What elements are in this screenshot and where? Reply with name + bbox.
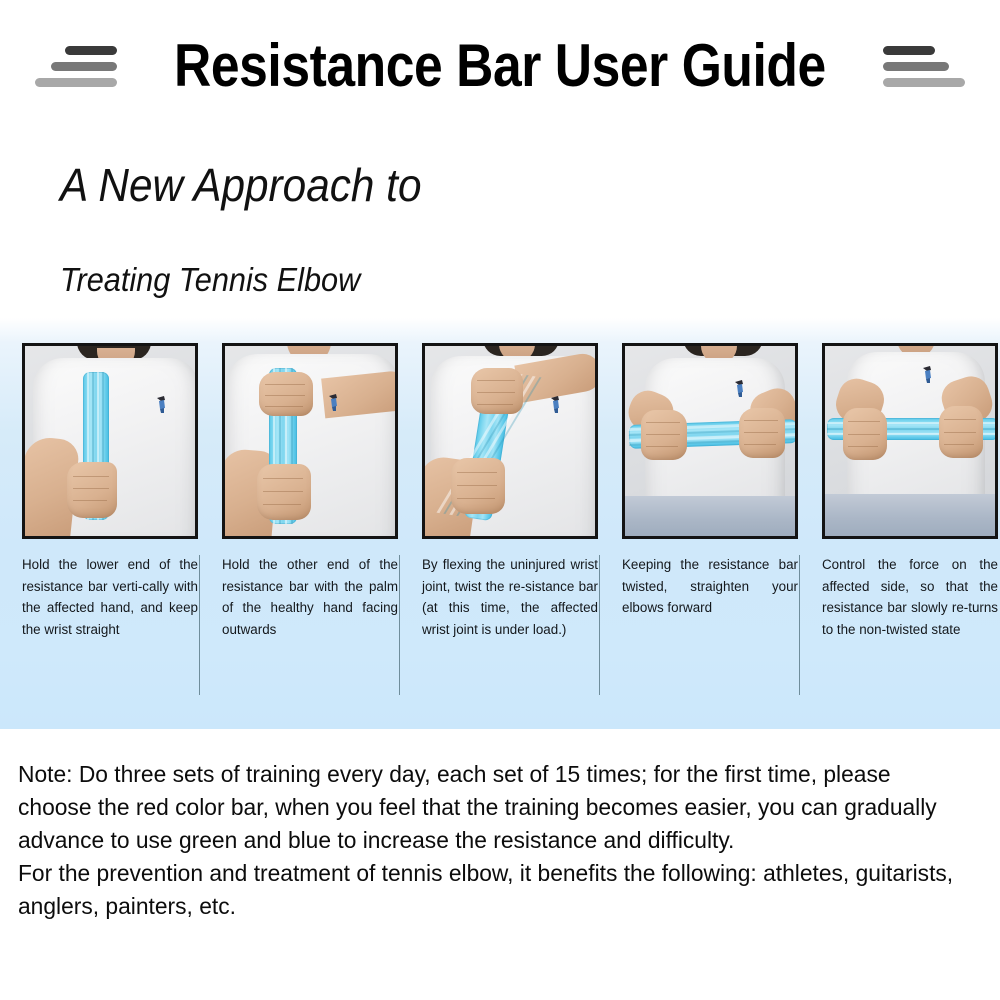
title-decoration-right [883,46,979,87]
step-2-photo [225,346,395,536]
deco-bar-medium [51,62,117,71]
step-5-photo-frame [822,343,998,539]
step-5-caption: Control the force on the affected side, … [822,554,998,640]
step-1-photo [25,346,195,536]
step-4-photo-frame [622,343,798,539]
steps-row: Hold the lower end of the resistance bar… [0,318,1000,729]
note-paragraph-1: Note: Do three sets of training every da… [18,758,955,857]
note-block: Note: Do three sets of training every da… [18,758,955,923]
step-1-caption: Hold the lower end of the resistance bar… [22,554,198,640]
title-decoration-left [21,46,117,87]
step-3-photo-frame [422,343,598,539]
page-title: Resistance Bar User Guide [174,35,826,97]
step-3-photo [425,346,595,536]
shirt-logo-icon [153,394,169,414]
subtitle-line-1: A New Approach to [60,157,421,213]
shirt-logo-icon [919,364,935,384]
shirt-logo-icon [731,378,747,398]
step-2: Hold the other end of the resistance bar… [200,318,400,729]
step-3: By flexing the uninjured wrist joint, tw… [400,318,600,729]
step-4: Keeping the resistance bar twisted, stra… [600,318,800,729]
step-3-caption: By flexing the uninjured wrist joint, tw… [422,554,598,640]
subtitle-line-2: Treating Tennis Elbow [60,259,360,301]
step-4-caption: Keeping the resistance bar twisted, stra… [622,554,798,619]
step-1: Hold the lower end of the resistance bar… [0,318,200,729]
title-row: Resistance Bar User Guide [0,26,1000,106]
step-2-caption: Hold the other end of the resistance bar… [222,554,398,640]
step-1-photo-frame [22,343,198,539]
shirt-logo-icon [547,394,563,414]
step-5-photo [825,346,995,536]
note-paragraph-2: For the prevention and treatment of tenn… [18,857,955,923]
step-4-photo [625,346,795,536]
shirt-logo-icon [325,392,341,412]
deco-bar-medium [883,62,949,71]
step-2-photo-frame [222,343,398,539]
step-5: Control the force on the affected side, … [800,318,1000,729]
user-guide-page: Resistance Bar User Guide A New Approach… [0,0,1000,1000]
deco-bar-light [883,78,965,87]
deco-bar-light [35,78,117,87]
deco-bar-dark [883,46,935,55]
deco-bar-dark [65,46,117,55]
